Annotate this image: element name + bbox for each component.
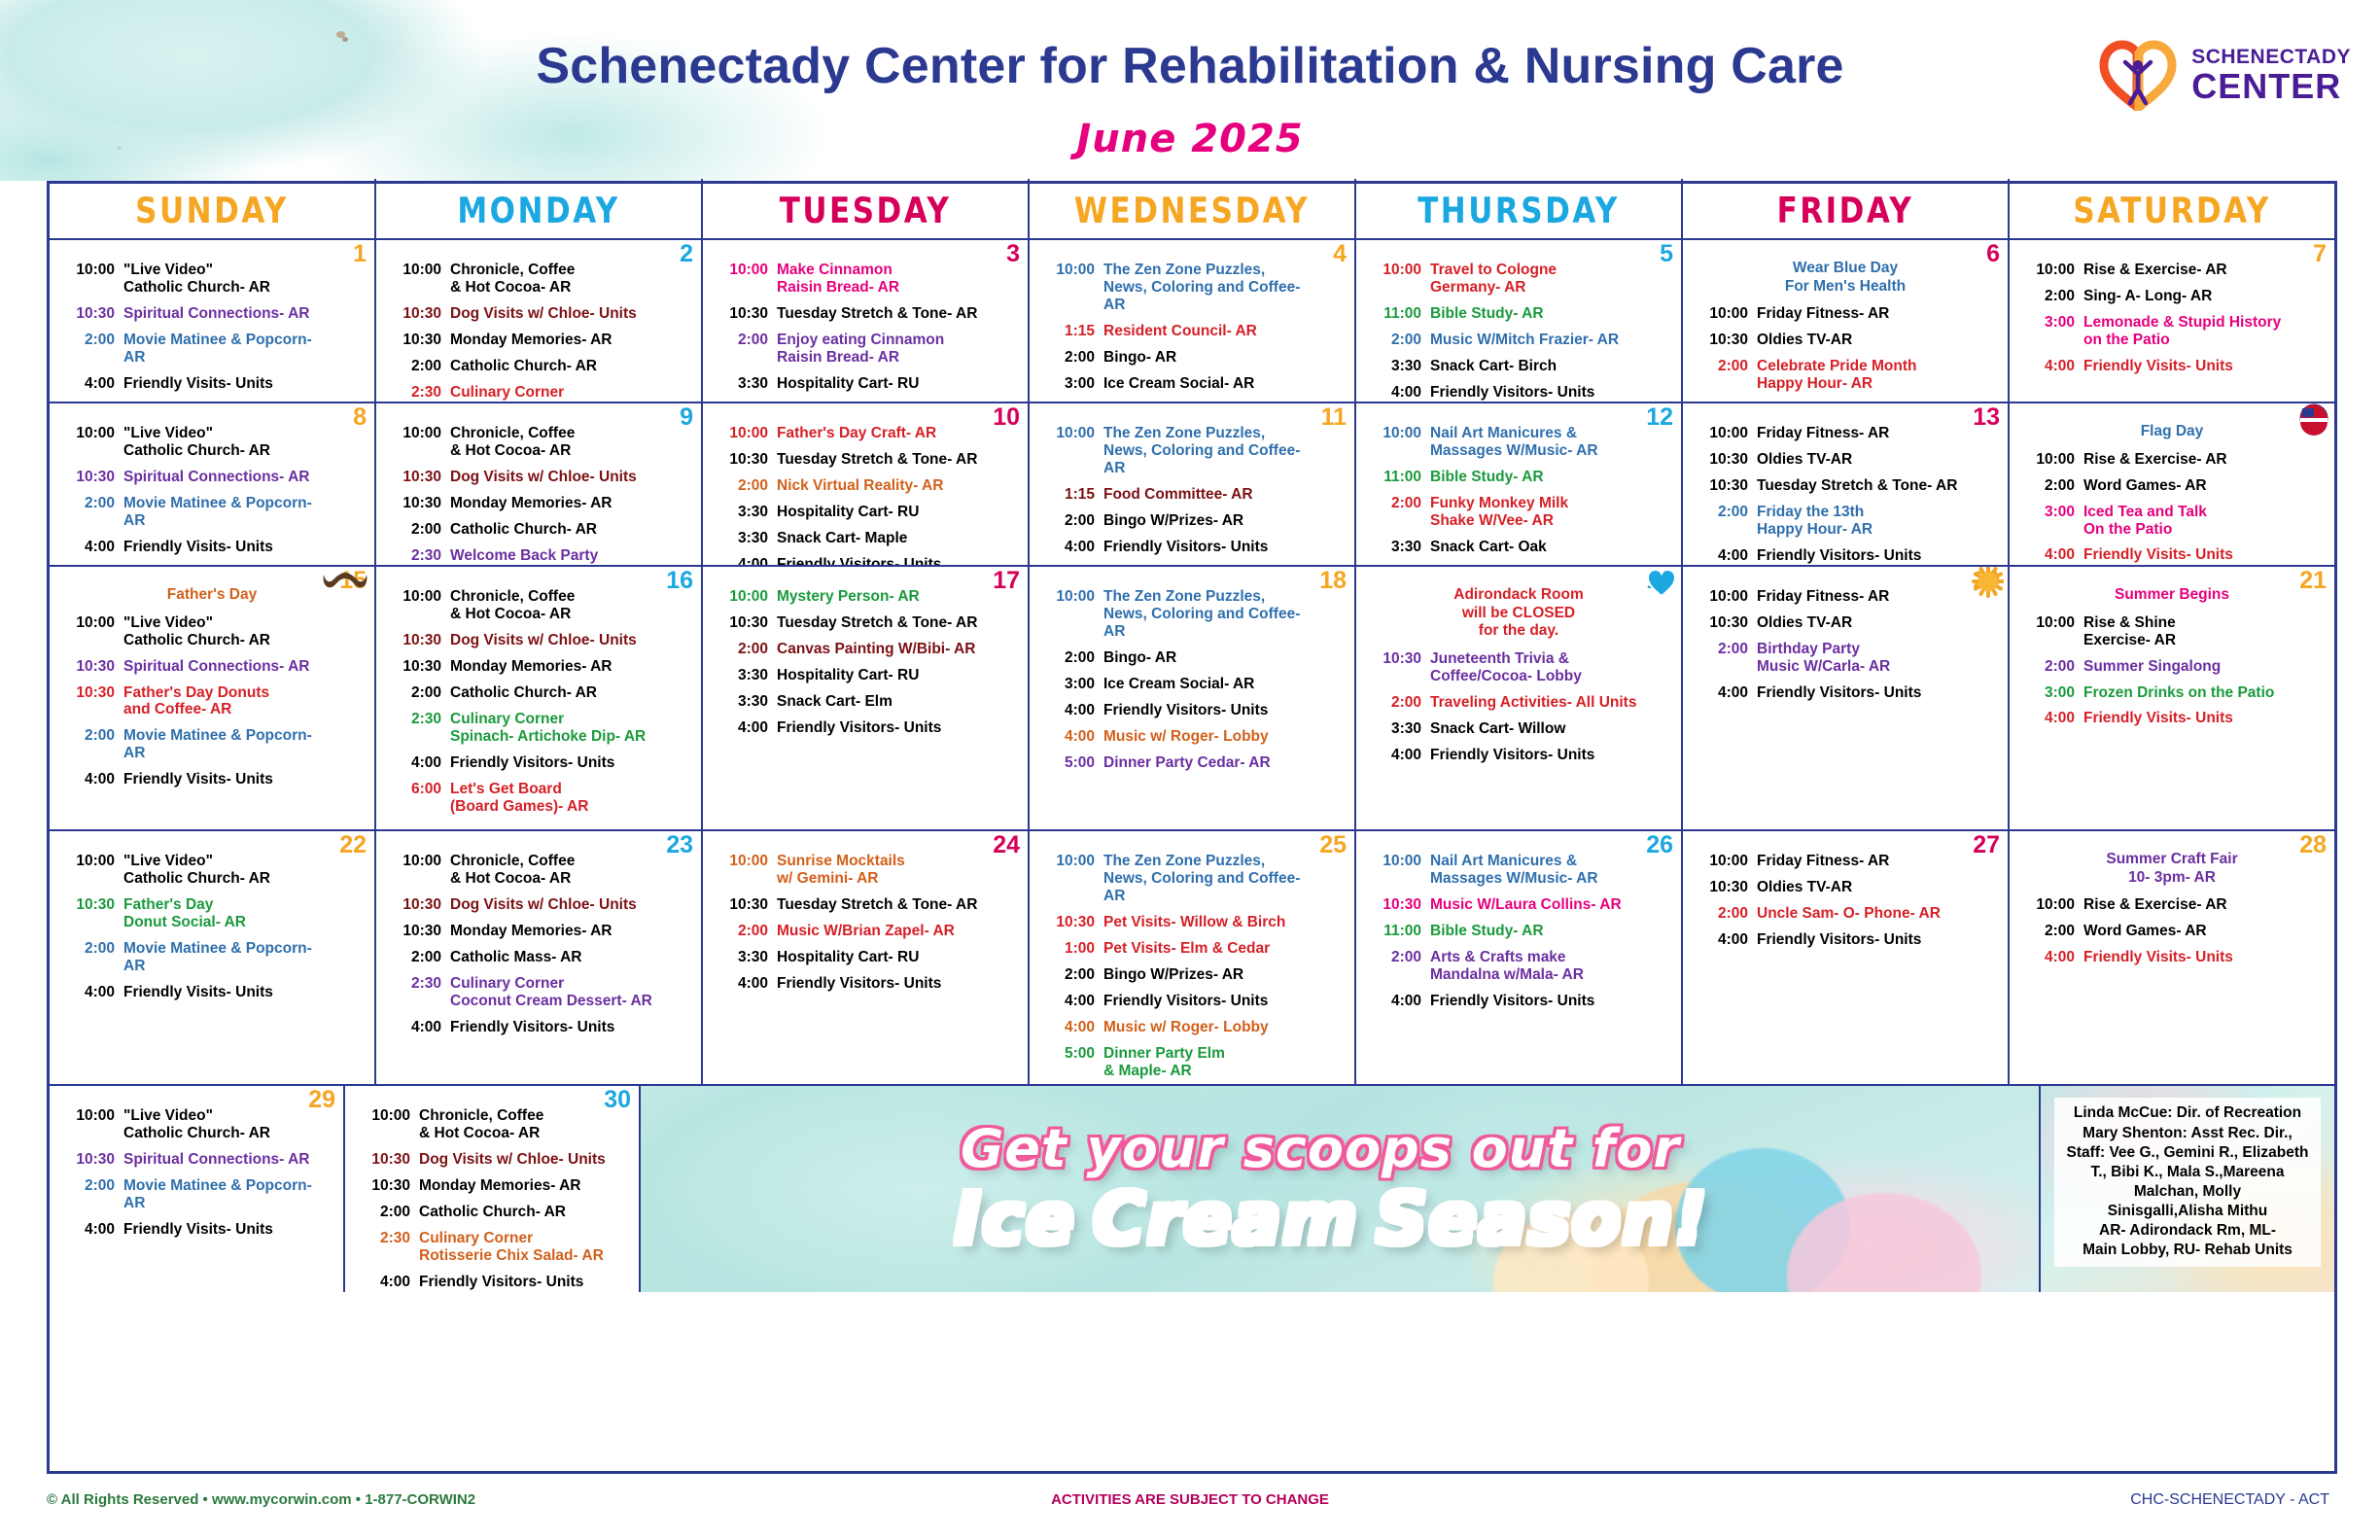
day-number: 29 [308, 1088, 335, 1112]
event-item[interactable]: 2:30Welcome Back PartyFor Mareena- AR [385, 547, 692, 565]
day-number: 17 [993, 569, 1020, 593]
event-name: Friday Fitness- AR [1757, 425, 1999, 442]
event-time: 10:30 [1692, 332, 1757, 349]
cell-spacer [2018, 248, 2326, 262]
staff-cell: Linda McCue: Dir. of RecreationMary Shen… [2041, 1086, 2334, 1292]
event-item[interactable]: 10:30Tuesday Stretch & Tone- AR [712, 305, 1019, 323]
event-item[interactable]: 10:00Friday Fitness- AR [1692, 305, 1999, 323]
event-item[interactable]: 10:00Chronicle, Coffee& Hot Cocoa- AR [385, 262, 692, 297]
event-name: Monday Memories- AR [450, 332, 692, 349]
event-item[interactable]: 10:30Spiritual Connections- AR [58, 469, 366, 486]
event-item[interactable]: 10:30Dog Visits w/ Chloe- Units [385, 469, 692, 486]
event-name: "Live Video"Catholic Church- AR [123, 853, 366, 888]
day-cell-6[interactable]: 6Wear Blue DayFor Men's Health10:00Frida… [1683, 240, 2010, 402]
event-item[interactable]: 10:30Monday Memories- AR [385, 332, 692, 349]
event-item[interactable]: 4:00Friendly Visits- Units [2018, 949, 2326, 966]
event-name: Rise & Exercise- AR [2083, 451, 2326, 469]
event-item[interactable]: 10:30Tuesday Stretch & Tone- AR [712, 451, 1019, 469]
event-item[interactable]: 4:00Friendly Visits- Units [58, 1221, 334, 1239]
event-item[interactable]: 10:00"Live Video"Catholic Church- AR [58, 853, 366, 888]
day-cell-8[interactable]: 810:00"Live Video"Catholic Church- AR10:… [50, 403, 376, 565]
event-name: Birthday PartyMusic W/Carla- AR [1757, 641, 1999, 676]
day-banner-text: Flag Day [2018, 423, 2326, 441]
event-item[interactable]: 10:30Oldies TV-AR [1692, 451, 1999, 469]
event-item[interactable]: 2:30Culinary CornerRotisserie Chix Salad… [354, 1230, 630, 1265]
event-name: Snack Cart- Maple [777, 530, 1019, 547]
day-cell-12[interactable]: 1210:00Nail Art Manicures &Massages W/Mu… [1356, 403, 1683, 565]
day-header-tuesday: TUESDAY [703, 179, 1030, 243]
day-number: 23 [666, 833, 693, 857]
event-item[interactable]: 10:30Spiritual Connections- AR [58, 658, 366, 676]
event-name: Friendly Visitors- Units [1757, 547, 1999, 565]
day-header-saturday: SATURDAY [2010, 179, 2334, 243]
event-time: 2:00 [58, 727, 123, 745]
event-time: 3:30 [712, 949, 777, 966]
event-name: The Zen Zone Puzzles,News, Coloring and … [1103, 853, 1346, 905]
event-name: Culinary CornerStrawberry Salsa w/Cinnam… [450, 384, 692, 402]
event-time: 2:00 [385, 949, 450, 966]
event-item[interactable]: 2:00Nick Virtual Reality- AR [712, 477, 1019, 495]
event-name: Music W/Brian Zapel- AR [777, 923, 1019, 940]
event-time: 4:00 [1692, 931, 1757, 949]
day-header-thursday: THURSDAY [1356, 179, 1683, 243]
brand-logo: SCHENECTADY CENTER [2098, 37, 2351, 113]
cell-spacer [1365, 411, 1672, 425]
event-item[interactable]: 4:00Friendly Visitors- Units [712, 556, 1019, 565]
event-item[interactable]: 10:30Monday Memories- AR [354, 1177, 630, 1195]
week-row: 2910:00"Live Video"Catholic Church- AR10… [50, 1086, 2334, 1292]
event-time: 10:30 [385, 923, 450, 940]
event-item[interactable]: 10:30Dog Visits w/ Chloe- Units [385, 305, 692, 323]
cell-spacer [1692, 575, 1999, 588]
event-item[interactable]: 4:00Friendly Visits- Units [58, 375, 366, 393]
event-item[interactable]: 10:00Rise & ShineExercise- AR [2018, 614, 2326, 649]
event-time: 4:00 [1692, 684, 1757, 702]
event-item[interactable]: 1:15Food Committee- AR [1038, 486, 1346, 504]
event-item[interactable]: 4:00Friendly Visits- Units [2018, 358, 2326, 375]
event-time: 10:00 [712, 262, 777, 279]
event-time: 10:30 [385, 632, 450, 649]
event-item[interactable]: 2:00Catholic Church- AR [385, 684, 692, 702]
event-time: 10:00 [385, 262, 450, 279]
event-item[interactable]: 2:00Catholic Mass- AR [385, 949, 692, 966]
event-item[interactable]: 10:30Spiritual Connections- AR [58, 1151, 334, 1169]
event-item[interactable]: 10:30Tuesday Stretch & Tone- AR [1692, 477, 1999, 495]
event-item[interactable]: 10:00Nail Art Manicures &Massages W/Musi… [1365, 425, 1672, 460]
day-number: 14 [2299, 405, 2327, 430]
day-cell-18[interactable]: 1810:00The Zen Zone Puzzles,News, Colori… [1030, 567, 1356, 829]
event-item[interactable]: 2:00Enjoy eating CinnamonRaisin Bread- A… [712, 332, 1019, 367]
event-item[interactable]: 2:00Birthday PartyMusic W/Carla- AR [1692, 641, 1999, 676]
event-item[interactable]: 4:00Friendly Visits- Units [2018, 710, 2326, 727]
event-name: Catholic Church- AR [450, 521, 692, 539]
day-number: 12 [1646, 405, 1673, 430]
event-item[interactable]: 11:00Bible Study- AR [1365, 923, 1672, 940]
staff-line: Malchan, Molly [2134, 1183, 2241, 1200]
day-number: 27 [1973, 833, 2000, 857]
event-item[interactable]: 2:00Movie Matinee & Popcorn-AR [58, 332, 366, 367]
event-item[interactable]: 10:00Chronicle, Coffee& Hot Cocoa- AR [385, 853, 692, 888]
event-item[interactable]: 10:00The Zen Zone Puzzles,News, Coloring… [1038, 588, 1346, 641]
day-number: 2 [680, 242, 693, 266]
event-name: Friendly Visits- Units [2083, 358, 2326, 375]
event-item[interactable]: 3:30Snack Cart- Oak [1365, 539, 1672, 556]
day-header-monday: MONDAY [376, 179, 703, 243]
event-name: Monday Memories- AR [450, 923, 692, 940]
event-time: 4:00 [1038, 993, 1103, 1010]
event-item[interactable]: 2:00Bingo W/Prizes- AR [1038, 512, 1346, 530]
event-item[interactable]: 10:30Music W/Laura Collins- AR [1365, 896, 1672, 914]
event-time: 2:00 [1365, 495, 1430, 512]
day-number: 26 [1646, 833, 1673, 857]
event-item[interactable]: 2:30Culinary CornerStrawberry Salsa w/Ci… [385, 384, 692, 402]
event-name: Snack Cart- Willow [1430, 720, 1672, 738]
event-time: 10:30 [712, 896, 777, 914]
day-cell-24[interactable]: 2410:00Sunrise Mocktailsw/ Gemini- AR10:… [703, 831, 1030, 1084]
event-time: 2:00 [1365, 949, 1430, 966]
event-item[interactable]: 10:00Chronicle, Coffee& Hot Cocoa- AR [385, 425, 692, 460]
event-name: Music W/Mitch Frazier- AR [1430, 332, 1672, 349]
cell-spacer [1692, 411, 1999, 425]
day-number: 4 [1333, 242, 1347, 266]
event-name: Ice Cream Social- AR [1103, 375, 1346, 393]
event-name: Iced Tea and TalkOn the Patio [2083, 504, 2326, 539]
event-time: 10:00 [58, 853, 123, 870]
day-cell-2[interactable]: 210:00Chronicle, Coffee& Hot Cocoa- AR10… [376, 240, 703, 402]
event-item[interactable]: 5:00Dinner Party Elm& Maple- AR [1038, 1045, 1346, 1080]
event-item[interactable]: 4:00Music w/ Roger- Lobby [1038, 1019, 1346, 1036]
event-item[interactable]: 10:00The Zen Zone Puzzles,News, Coloring… [1038, 262, 1346, 314]
event-item[interactable]: 4:00Friendly Visitors- Units [354, 1274, 630, 1291]
event-item[interactable]: 10:30Dog Visits w/ Chloe- Units [385, 632, 692, 649]
day-cell-20[interactable]: 2010:00Friday Fitness- AR10:30Oldies TV-… [1683, 567, 2010, 829]
event-name: The Zen Zone Puzzles,News, Coloring and … [1103, 262, 1346, 314]
staff-line: Main Lobby, RU- Rehab Units [2082, 1242, 2292, 1258]
event-item[interactable]: 4:00Friendly Visitors- Units [1365, 384, 1672, 402]
day-cell-9[interactable]: 910:00Chronicle, Coffee& Hot Cocoa- AR10… [376, 403, 703, 565]
event-name: Funky Monkey MilkShake W/Vee- AR [1430, 495, 1672, 530]
event-item[interactable]: 4:00Friendly Visits- Units [2018, 546, 2326, 564]
day-cell-4[interactable]: 410:00The Zen Zone Puzzles,News, Colorin… [1030, 240, 1356, 402]
day-cell-27[interactable]: 2710:00Friday Fitness- AR10:30Oldies TV-… [1683, 831, 2010, 1084]
event-item[interactable]: 4:00Friendly Visitors- Units [1038, 539, 1346, 556]
day-number: 9 [680, 405, 693, 430]
event-name: Spiritual Connections- AR [123, 658, 366, 676]
event-item[interactable]: 3:30Hospitality Cart- RU [712, 504, 1019, 521]
event-item[interactable]: 10:00Rise & Exercise- AR [2018, 896, 2326, 914]
event-item[interactable]: 10:00"Live Video"Catholic Church- AR [58, 614, 366, 649]
event-time: 10:00 [1038, 588, 1103, 606]
event-item[interactable]: 2:00Movie Matinee & Popcorn-AR [58, 1177, 334, 1212]
event-item[interactable]: 3:30Hospitality Cart- RU [712, 949, 1019, 966]
month-label: June 2025 [0, 117, 2380, 161]
event-item[interactable]: 2:30Culinary CornerCoconut Cream Dessert… [385, 975, 692, 1010]
day-cell-1[interactable]: 110:00"Live Video"Catholic Church- AR10:… [50, 240, 376, 402]
event-time: 2:00 [1365, 694, 1430, 712]
event-item[interactable]: 10:30Monday Memories- AR [385, 495, 692, 512]
event-item[interactable]: 2:00Traveling Activities- All Units [1365, 694, 1672, 712]
event-time: 3:00 [2018, 684, 2083, 702]
event-item[interactable]: 3:00Ice Cream Social- AR [1038, 375, 1346, 393]
event-item[interactable]: 10:00Friday Fitness- AR [1692, 425, 1999, 442]
cell-spacer [58, 1094, 334, 1107]
event-item[interactable]: 10:00Friday Fitness- AR [1692, 588, 1999, 606]
day-cell-26[interactable]: 2610:00Nail Art Manicures &Massages W/Mu… [1356, 831, 1683, 1084]
event-item[interactable]: 10:30Dog Visits w/ Chloe- Units [354, 1151, 630, 1169]
event-time: 10:30 [1692, 477, 1757, 495]
day-number: 3 [1006, 242, 1020, 266]
event-name: Bingo- AR [1103, 649, 1346, 667]
event-item[interactable]: 10:30Juneteenth Trivia &Coffee/Cocoa- Lo… [1365, 650, 1672, 685]
day-cell-21[interactable]: 21Summer Begins10:00Rise & ShineExercise… [2010, 567, 2334, 829]
event-item[interactable]: 2:00Music W/Brian Zapel- AR [712, 923, 1019, 940]
event-item[interactable]: 2:00Summer Singalong [2018, 658, 2326, 676]
event-time: 2:00 [58, 940, 123, 958]
event-item[interactable]: 10:00"Live Video"Catholic Church- AR [58, 425, 366, 460]
event-name: Pet Visits- Elm & Cedar [1103, 940, 1346, 958]
event-time: 4:00 [1038, 1019, 1103, 1036]
day-cell-3[interactable]: 310:00Make CinnamonRaisin Bread- AR10:30… [703, 240, 1030, 402]
event-item[interactable]: 3:00Frozen Drinks on the Patio [2018, 684, 2326, 702]
event-item[interactable]: 4:00Music w/ Roger- Lobby [1038, 728, 1346, 746]
event-item[interactable]: 4:00Friendly Visitors- Units [712, 719, 1019, 737]
event-item[interactable]: 10:00Rise & Exercise- AR [2018, 451, 2326, 469]
cell-spacer [712, 575, 1019, 588]
event-name: Tuesday Stretch & Tone- AR [777, 305, 1019, 323]
event-item[interactable]: 4:00Friendly Visitors- Units [1692, 684, 1999, 702]
day-cell-30[interactable]: 3010:00Chronicle, Coffee& Hot Cocoa- AR1… [345, 1086, 641, 1292]
event-time: 2:00 [1038, 512, 1103, 530]
event-item[interactable]: 10:00Nail Art Manicures &Massages W/Musi… [1365, 853, 1672, 888]
calendar-page: Schenectady Center for Rehabilitation & … [0, 0, 2380, 1540]
event-item[interactable]: 2:00Celebrate Pride MonthHappy Hour- AR [1692, 358, 1999, 393]
event-name: The Zen Zone Puzzles,News, Coloring and … [1103, 425, 1346, 477]
day-cell-7[interactable]: 710:00Rise & Exercise- AR2:00Sing- A- Lo… [2010, 240, 2334, 402]
event-time: 2:00 [58, 495, 123, 512]
event-time: 1:00 [1038, 940, 1103, 958]
event-name: Chronicle, Coffee& Hot Cocoa- AR [419, 1107, 630, 1142]
event-item[interactable]: 10:30Oldies TV-AR [1692, 879, 1999, 896]
event-item[interactable]: 4:00Friendly Visits- Units [58, 539, 366, 556]
event-time: 2:00 [712, 332, 777, 349]
event-item[interactable]: 2:00Arts & Crafts makeMandalna w/Mala- A… [1365, 949, 1672, 984]
event-item[interactable]: 10:30Oldies TV-AR [1692, 332, 1999, 349]
event-name: Nail Art Manicures &Massages W/Music- AR [1430, 425, 1672, 460]
day-cell-14[interactable]: 14Flag Day10:00Rise & Exercise- AR2:00Wo… [2010, 403, 2334, 565]
event-time: 2:00 [1038, 349, 1103, 367]
event-item[interactable]: 2:00Uncle Sam- O- Phone- AR [1692, 905, 1999, 923]
event-item[interactable]: 4:00Friendly Visitors- Units [1038, 702, 1346, 719]
event-item[interactable]: 4:00Friendly Visitors- Units [1365, 993, 1672, 1010]
event-name: Snack Cart- Oak [1430, 539, 1672, 556]
event-item[interactable]: 10:00Friday Fitness- AR [1692, 853, 1999, 870]
event-item[interactable]: 10:30Tuesday Stretch & Tone- AR [712, 896, 1019, 914]
day-cell-16[interactable]: 1610:00Chronicle, Coffee& Hot Cocoa- AR1… [376, 567, 703, 829]
event-item[interactable]: 10:00"Live Video"Catholic Church- AR [58, 262, 366, 297]
event-name: Friendly Visits- Units [2083, 546, 2326, 564]
day-header-sunday: SUNDAY [50, 179, 376, 243]
event-item[interactable]: 4:00Friendly Visits- Units [58, 984, 366, 1001]
event-item[interactable]: 2:00Sing- A- Long- AR [2018, 288, 2326, 305]
event-item[interactable]: 10:00The Zen Zone Puzzles,News, Coloring… [1038, 853, 1346, 905]
event-name: Friendly Visitors- Units [1103, 539, 1346, 556]
event-time: 4:00 [58, 375, 123, 393]
event-item[interactable]: 3:30Snack Cart- Willow [1365, 720, 1672, 738]
event-item[interactable]: 2:00Movie Matinee & Popcorn-AR [58, 940, 366, 975]
event-item[interactable]: 2:00Catholic Church- AR [385, 358, 692, 375]
event-name: Father's Day Craft- AR [777, 425, 1019, 442]
promo-cell: Get your scoops out forIceCreamSeason! [641, 1086, 2041, 1292]
event-item[interactable]: 4:00Friendly Visitors- Units [712, 975, 1019, 993]
event-item[interactable]: 2:00Bingo- AR [1038, 349, 1346, 367]
day-cell-25[interactable]: 2510:00The Zen Zone Puzzles,News, Colori… [1030, 831, 1356, 1084]
event-name: Friendly Visits- Units [123, 984, 366, 1001]
event-item[interactable]: 10:30Father's Day Donutsand Coffee- AR [58, 684, 366, 719]
event-name: Resident Council- AR [1103, 323, 1346, 340]
day-cell-23[interactable]: 2310:00Chronicle, Coffee& Hot Cocoa- AR1… [376, 831, 703, 1084]
event-item[interactable]: 2:00Movie Matinee & Popcorn-AR [58, 495, 366, 530]
event-item[interactable]: 4:00Friendly Visits- Units [58, 771, 366, 788]
event-time: 3:30 [1365, 358, 1430, 375]
event-item[interactable]: 10:00The Zen Zone Puzzles,News, Coloring… [1038, 425, 1346, 477]
event-name: Hospitality Cart- RU [777, 949, 1019, 966]
event-time: 10:00 [1038, 853, 1103, 870]
event-time: 2:00 [385, 684, 450, 702]
event-item[interactable]: 10:00"Live Video"Catholic Church- AR [58, 1107, 334, 1142]
event-name: Oldies TV-AR [1757, 332, 1999, 349]
event-item[interactable]: 10:00Sunrise Mocktailsw/ Gemini- AR [712, 853, 1019, 888]
event-name: Friendly Visits- Units [123, 539, 366, 556]
event-name: The Zen Zone Puzzles,News, Coloring and … [1103, 588, 1346, 641]
event-item[interactable]: 10:30Oldies TV-AR [1692, 614, 1999, 632]
event-name: Bingo W/Prizes- AR [1103, 966, 1346, 984]
event-time: 3:30 [1365, 720, 1430, 738]
event-time: 10:30 [385, 896, 450, 914]
event-name: Bible Study- AR [1430, 305, 1672, 323]
event-item[interactable]: 10:00Travel to CologneGermany- AR [1365, 262, 1672, 297]
event-item[interactable]: 3:30Snack Cart- Birch [1365, 358, 1672, 375]
event-item[interactable]: 4:00Friendly Visitors- Units [1692, 931, 1999, 949]
day-cell-13[interactable]: 1310:00Friday Fitness- AR10:30Oldies TV-… [1683, 403, 2010, 565]
event-item[interactable]: 10:30Father's DayDonut Social- AR [58, 896, 366, 931]
event-item[interactable]: 10:30Pet Visits- Willow & Birch [1038, 914, 1346, 931]
event-item[interactable]: 10:00Chronicle, Coffee& Hot Cocoa- AR [385, 588, 692, 623]
event-item[interactable]: 10:30Monday Memories- AR [385, 923, 692, 940]
event-item[interactable]: 4:00Friendly Visitors- Units [385, 754, 692, 772]
event-item[interactable]: 10:00Rise & Exercise- AR [2018, 262, 2326, 279]
event-item[interactable]: 3:30Snack Cart- Maple [712, 530, 1019, 547]
event-time: 10:30 [354, 1177, 419, 1195]
event-item[interactable]: 2:30Culinary CornerSpinach- Artichoke Di… [385, 711, 692, 746]
event-item[interactable]: 4:00Friendly Visitors- Units [385, 1019, 692, 1036]
cell-spacer [385, 839, 692, 853]
day-cell-5[interactable]: 510:00Travel to CologneGermany- AR11:00B… [1356, 240, 1683, 402]
event-time: 10:00 [58, 1107, 123, 1125]
event-name: Friendly Visitors- Units [1430, 747, 1672, 764]
event-name: Rise & Exercise- AR [2083, 262, 2326, 279]
event-item[interactable]: 11:00Bible Study- AR [1365, 469, 1672, 486]
event-time: 10:00 [1038, 425, 1103, 442]
event-item[interactable]: 1:15Resident Council- AR [1038, 323, 1346, 340]
day-number: 1 [353, 242, 367, 266]
cell-spacer [1038, 411, 1346, 425]
event-time: 10:00 [1692, 853, 1757, 870]
event-item[interactable]: 10:00Mystery Person- AR [712, 588, 1019, 606]
day-cell-22[interactable]: 2210:00"Live Video"Catholic Church- AR10… [50, 831, 376, 1084]
event-item[interactable]: 2:00Word Games- AR [2018, 477, 2326, 495]
event-item[interactable]: 10:30Monday Memories- AR [385, 658, 692, 676]
day-cell-17[interactable]: 1710:00Mystery Person- AR10:30Tuesday St… [703, 567, 1030, 829]
day-cell-10[interactable]: 1010:00Father's Day Craft- AR10:30Tuesda… [703, 403, 1030, 565]
day-cell-19[interactable]: 19Adirondack Roomwill be CLOSEDfor the d… [1356, 567, 1683, 829]
event-item[interactable]: 4:00Friendly Visitors- Units [1365, 747, 1672, 764]
event-item[interactable]: 2:00Movie Matinee & Popcorn-AR [58, 727, 366, 762]
event-item[interactable]: 5:00Dinner Party Cedar- AR [1038, 754, 1346, 772]
day-cell-15[interactable]: 15Father's Day10:00"Live Video"Catholic … [50, 567, 376, 829]
event-item[interactable]: 2:00Friday the 13thHappy Hour- AR [1692, 504, 1999, 539]
day-cell-29[interactable]: 2910:00"Live Video"Catholic Church- AR10… [50, 1086, 345, 1292]
page-title: Schenectady Center for Rehabilitation & … [0, 37, 2380, 95]
event-item[interactable]: 4:00Friendly Visitors- Units [1038, 993, 1346, 1010]
event-item[interactable]: 10:30Dog Visits w/ Chloe- Units [385, 896, 692, 914]
event-item[interactable]: 1:00Pet Visits- Elm & Cedar [1038, 940, 1346, 958]
event-time: 2:30 [354, 1230, 419, 1247]
event-item[interactable]: 6:00Let's Get Board(Board Games)- AR [385, 781, 692, 816]
event-time: 10:30 [354, 1151, 419, 1169]
event-item[interactable]: 10:00Chronicle, Coffee& Hot Cocoa- AR [354, 1107, 630, 1142]
event-item[interactable]: 2:00Bingo W/Prizes- AR [1038, 966, 1346, 984]
event-item[interactable]: 3:30Hospitality Cart- RU [712, 375, 1019, 393]
event-item[interactable]: 10:30Spiritual Connections- AR [58, 305, 366, 323]
event-item[interactable]: 2:00Word Games- AR [2018, 923, 2326, 940]
event-item[interactable]: 3:00Ice Cream Social- AR [1038, 676, 1346, 693]
event-item[interactable]: 4:00Friendly Visitors- Units [1692, 547, 1999, 565]
cell-spacer [58, 411, 366, 425]
event-item[interactable]: 11:00Bible Study- AR [1365, 305, 1672, 323]
event-item[interactable]: 2:00Canvas Painting W/Bibi- AR [712, 641, 1019, 658]
event-name: Snack Cart- Birch [1430, 358, 1672, 375]
event-name: Chronicle, Coffee& Hot Cocoa- AR [450, 588, 692, 623]
event-item[interactable]: 10:00Father's Day Craft- AR [712, 425, 1019, 442]
event-name: Tuesday Stretch & Tone- AR [1757, 477, 1999, 495]
staff-line: Sinisgalli,Alisha Mithu [2108, 1203, 2268, 1219]
event-time: 2:00 [354, 1204, 419, 1221]
event-name: Hospitality Cart- RU [777, 667, 1019, 684]
event-item[interactable]: 3:30Hospitality Cart- RU [712, 667, 1019, 684]
event-item[interactable]: 3:00Iced Tea and TalkOn the Patio [2018, 504, 2326, 539]
day-cell-28[interactable]: 28Summer Craft Fair10- 3pm- AR10:00Rise … [2010, 831, 2334, 1084]
cell-spacer [1365, 248, 1672, 262]
event-item[interactable]: 3:00Lemonade & Stupid Historyon the Pati… [2018, 314, 2326, 349]
day-cell-11[interactable]: 1110:00The Zen Zone Puzzles,News, Colori… [1030, 403, 1356, 565]
day-number: 21 [2299, 569, 2327, 593]
event-item[interactable]: 10:30Tuesday Stretch & Tone- AR [712, 614, 1019, 632]
event-time: 5:00 [1038, 754, 1103, 772]
event-time: 10:30 [712, 451, 777, 469]
event-item[interactable]: 10:00Make CinnamonRaisin Bread- AR [712, 262, 1019, 297]
event-item[interactable]: 2:00Bingo- AR [1038, 649, 1346, 667]
event-item[interactable]: 2:00Music W/Mitch Frazier- AR [1365, 332, 1672, 349]
event-time: 4:00 [58, 1221, 123, 1239]
event-name: Dog Visits w/ Chloe- Units [450, 469, 692, 486]
event-item[interactable]: 2:00Catholic Church- AR [385, 521, 692, 539]
event-time: 3:30 [712, 530, 777, 547]
event-time: 10:00 [712, 425, 777, 442]
event-time: 10:30 [1692, 879, 1757, 896]
event-item[interactable]: 3:30Snack Cart- Elm [712, 693, 1019, 711]
event-item[interactable]: 2:00Catholic Church- AR [354, 1204, 630, 1221]
event-item[interactable]: 2:00Funky Monkey MilkShake W/Vee- AR [1365, 495, 1672, 530]
